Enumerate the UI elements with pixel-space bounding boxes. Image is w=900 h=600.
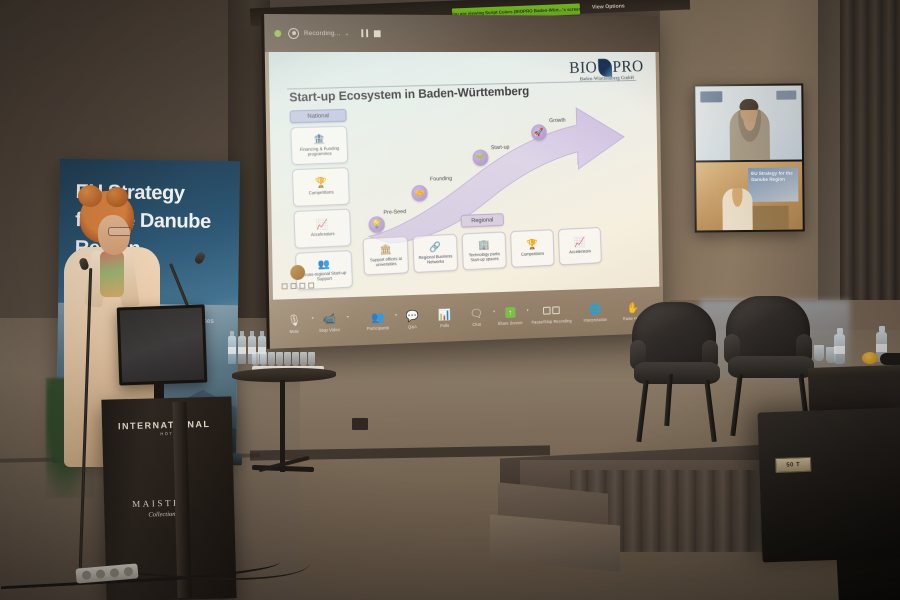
recording-controls[interactable] (362, 29, 381, 37)
question-answer-icon: 💬 (406, 309, 419, 322)
biopro-logo-subtitle: Baden-Württemberg GmbH (569, 75, 643, 83)
annotation-tools[interactable] (281, 282, 314, 289)
presenter-scarf (100, 251, 124, 297)
national-box-competitions: 🏆 Competitions (292, 167, 350, 207)
stage-label-pre-seed: Pre-Seed (383, 209, 406, 216)
national-tag: National (290, 109, 347, 124)
window-curtain (840, 0, 900, 300)
live-indicator-icon (274, 30, 281, 37)
drinking-glasses (252, 352, 315, 366)
foreground-monitor: 50 T (757, 407, 900, 562)
biopro-logo: BIO PRO Baden-Württemberg GmbH (569, 57, 644, 83)
toolbar-label: Pause/Stop Recording (531, 318, 571, 324)
panel-water-bottle (834, 334, 845, 364)
regional-box-competitions: 🏆 Competitions (510, 229, 555, 268)
toolbar-label: Share Screen (498, 320, 523, 326)
pen-tool-icon[interactable] (290, 283, 296, 289)
zoom-toolbar-pause-stop-recording[interactable]: Pause/Stop Recording (527, 303, 575, 324)
equipment-label: 50 T (775, 457, 812, 473)
toolbar-label: Stop Video (319, 327, 340, 333)
remote-speaker-hair (739, 99, 758, 110)
tech-park-icon: 🏢 (478, 240, 490, 251)
water-bottle (238, 336, 246, 364)
room-camera-video-tile: EU Strategy for the Danube Region (696, 161, 803, 230)
presenter-hair-bun-left (78, 185, 102, 207)
toolbar-label: Chat (472, 321, 481, 326)
regional-box-label: Support offices at universities (365, 256, 407, 268)
national-box-label: Accelerators (311, 231, 335, 237)
accelerator-icon: 📈 (316, 220, 329, 231)
glass (292, 352, 299, 366)
glass (284, 352, 291, 366)
event-logo-right-icon (776, 91, 796, 100)
biopro-word-right: PRO (612, 57, 644, 77)
stop-icon[interactable] (374, 30, 381, 37)
recording-dot-icon (288, 28, 299, 39)
stage-label-start-up: Start-up (491, 145, 510, 151)
biopro-word-left: BIO (569, 58, 598, 78)
lectern-brand-line4: Collection (148, 511, 175, 519)
presenter-avatar (290, 265, 305, 280)
lectern-monitor-screen (120, 308, 204, 383)
wall-outlet (352, 418, 368, 430)
recording-status-bar: Recording... ⌄ (264, 14, 659, 52)
fruit-bowl (862, 352, 878, 364)
glass (268, 352, 275, 366)
zoom-toolbar-mute[interactable]: 🎙 Mute (277, 313, 311, 334)
accelerator-icon: 📈 (574, 238, 586, 249)
recording-controls-icon (543, 304, 560, 317)
chevron-down-icon[interactable]: ▾ (493, 309, 495, 314)
zoom-toolbar-share-screen[interactable]: ↑ Share Screen (494, 305, 526, 325)
glass (308, 352, 315, 366)
regional-box-technology-parks: 🏢 Technology parks Start-up spaces (462, 231, 507, 270)
panel-table-object (880, 353, 900, 365)
regional-box-accelerators: 📈 Accelerators (558, 227, 602, 265)
chat-bubble-icon: 🗨 (470, 307, 483, 320)
chevron-down-icon[interactable]: ⌄ (344, 30, 349, 37)
lectern-monitor (117, 304, 208, 385)
water-bottle (228, 336, 236, 364)
regional-box-business-networks: 🔗 Regional Business Networks (412, 234, 458, 273)
recording-status-label: Recording... (304, 30, 341, 37)
trophy-icon: 🏆 (526, 240, 538, 251)
regional-box-label: Technology parks Start-up spaces (464, 251, 504, 263)
funding-wallet-icon: 🏦 (313, 134, 326, 145)
regional-tag-wrap: Regional (461, 213, 504, 228)
poll-bars-icon: 📊 (438, 308, 451, 321)
national-box-financing: 🏦 Financing & Funding programmes (290, 126, 348, 166)
zoom-toolbar-qa[interactable]: 💬 Q&A (396, 309, 429, 330)
chevron-down-icon[interactable]: ▾ (527, 307, 529, 312)
zoom-toolbar-chat[interactable]: 🗨 Chat (460, 306, 492, 327)
glass (276, 352, 283, 366)
chair-left (632, 302, 716, 372)
event-logo-left-icon (700, 91, 722, 102)
stage-label-founding: Founding (430, 176, 452, 183)
national-box-accelerators: 📈 Accelerators (293, 209, 351, 249)
room-tile-speaker (722, 188, 752, 230)
shared-slide: Start-up Ecosystem in Baden-Württemberg … (269, 52, 660, 300)
national-box-label: Financing & Funding programmes (293, 145, 346, 157)
microphone-icon: 🎙 (287, 313, 301, 326)
shape-tool-icon[interactable] (299, 283, 305, 289)
projected-zoom-window: Recording... ⌄ Start-up Ecosystem in Bad… (264, 14, 664, 349)
zoom-toolbar-interpretation[interactable]: 🌐 Interpretation (575, 302, 615, 323)
pause-icon[interactable] (362, 29, 369, 37)
projection-screen: Recording... ⌄ Start-up Ecosystem in Bad… (261, 14, 661, 349)
glass (252, 352, 259, 366)
eraser-tool-icon[interactable] (308, 282, 314, 288)
video-camera-icon: 📹 (323, 312, 337, 325)
side-table-leg (280, 380, 285, 472)
presenter-hair-bun-right (106, 187, 128, 207)
globe-icon: 🌐 (589, 302, 602, 315)
zoom-toolbar-polls[interactable]: 📊 Polls (428, 308, 460, 329)
toolbar-label: Interpretation (583, 317, 607, 323)
regional-tag: Regional (461, 213, 504, 228)
glass (260, 352, 267, 366)
regional-box-label: Competitions (521, 251, 544, 257)
chevron-down-icon[interactable]: ▾ (395, 312, 397, 317)
regional-box-label: Regional Business Networks (415, 253, 456, 265)
toolbar-label: Participants (367, 325, 389, 331)
conference-room-photo: You are viewing Script Colors (BIOPRO Ba… (0, 0, 900, 600)
regional-box-support-offices: 🏛 Support offices at universities (363, 236, 409, 276)
remote-speaker-video-tile (695, 85, 802, 160)
glass (300, 352, 307, 366)
national-box-label: Competitions (309, 190, 334, 196)
toolbar-label: Polls (440, 323, 449, 328)
annotation-toolbar[interactable] (274, 264, 320, 295)
room-tile-slide-text: EU Strategy for the Danube Region (751, 170, 802, 182)
share-screen-icon: ↑ (505, 306, 515, 319)
trophy-icon: 🏆 (315, 178, 328, 189)
business-network-icon: 🔗 (429, 242, 441, 253)
select-tool-icon[interactable] (281, 283, 287, 289)
lectern-brand-line1: INTERNATIONAL (118, 419, 211, 431)
regional-box-label: Accelerators (569, 249, 591, 255)
presenter-glasses (108, 227, 132, 236)
zoom-toolbar-participants[interactable]: 👥 Participants (361, 310, 394, 331)
chevron-down-icon[interactable]: ▾ (347, 314, 349, 319)
toolbar-label: Q&A (408, 324, 417, 329)
chevron-down-icon[interactable]: ▾ (312, 315, 314, 320)
panel-glass (814, 345, 824, 361)
university-office-icon: 🏛 (379, 245, 392, 256)
chair-right (726, 296, 810, 366)
stage-label-growth: Growth (549, 118, 566, 124)
secondary-monitor: EU Strategy for the Danube Region (693, 83, 805, 232)
zoom-toolbar-stop-video[interactable]: 📹 Stop Video (313, 312, 346, 333)
participants-icon: 👥 (371, 310, 384, 323)
toolbar-label: Mute (289, 328, 299, 333)
national-column: National 🏦 Financing & Funding programme… (290, 109, 353, 291)
biopro-helix-mark-icon (597, 58, 611, 76)
